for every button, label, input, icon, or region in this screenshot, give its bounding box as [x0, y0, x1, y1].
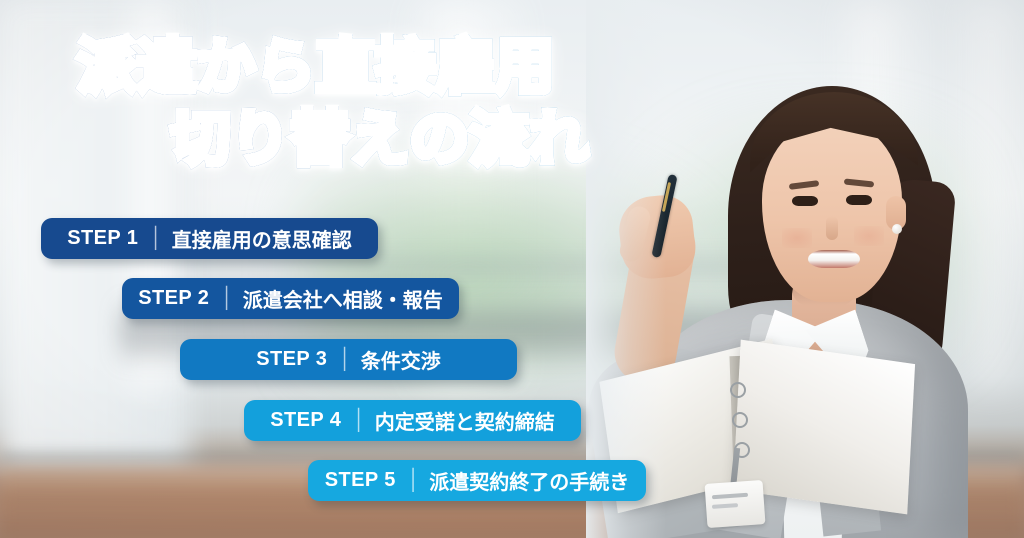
step-4-title: 内定受諾と契約締結 [375, 406, 555, 435]
step-item-4[interactable]: STEP 4 │ 内定受諾と契約締結 [244, 400, 581, 441]
step-2-title: 派遣会社へ相談・報告 [243, 284, 443, 313]
step-5-number: STEP 5 [325, 469, 396, 492]
step-3-separator: │ [339, 348, 352, 371]
step-5-separator: │ [408, 469, 421, 492]
step-item-3[interactable]: STEP 3 │ 条件交渉 [180, 339, 517, 380]
step-3-title: 条件交渉 [361, 345, 441, 374]
banner-image: 派遣から直接雇用 切り替えの流れ STEP 1 │ 直接雇用の意思確認 STEP… [0, 0, 1024, 538]
step-4-number: STEP 4 [270, 409, 341, 432]
step-5-title: 派遣契約終了の手続き [429, 466, 629, 495]
step-1-number: STEP 1 [67, 227, 138, 250]
step-1-separator: │ [150, 227, 163, 250]
step-item-2[interactable]: STEP 2 │ 派遣会社へ相談・報告 [122, 278, 459, 319]
step-2-number: STEP 2 [138, 287, 209, 310]
step-1-title: 直接雇用の意思確認 [172, 224, 352, 253]
step-item-1[interactable]: STEP 1 │ 直接雇用の意思確認 [41, 218, 378, 259]
step-3-number: STEP 3 [256, 348, 327, 371]
step-2-separator: │ [221, 287, 234, 310]
step-item-5[interactable]: STEP 5 │ 派遣契約終了の手続き [308, 460, 646, 501]
steps-list: STEP 1 │ 直接雇用の意思確認 STEP 2 │ 派遣会社へ相談・報告 S… [0, 0, 1024, 538]
step-4-separator: │ [353, 409, 366, 432]
